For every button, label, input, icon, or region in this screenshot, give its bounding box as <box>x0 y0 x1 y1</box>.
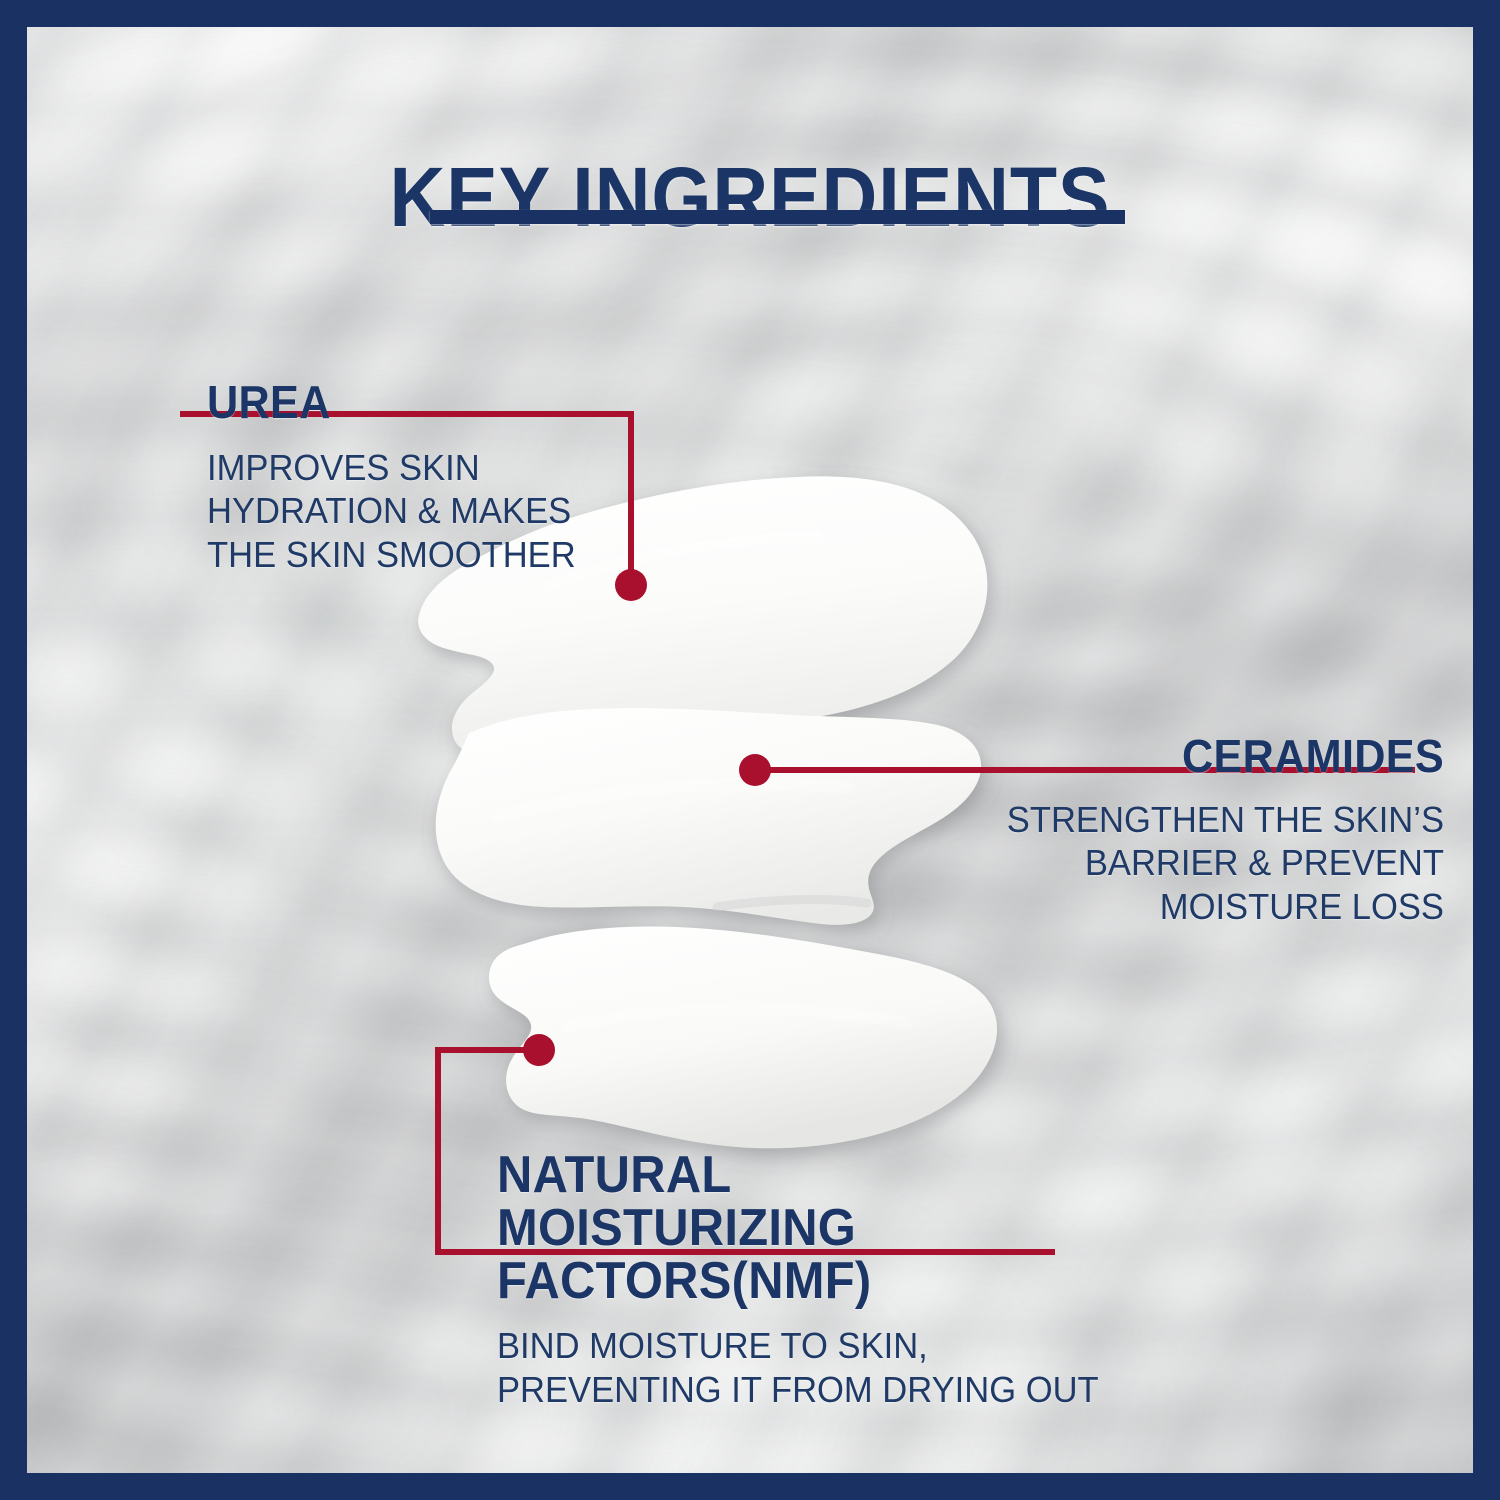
key-ingredients-infographic: KEY INGREDIENTS UREA IMPROVES SKINHYDRAT… <box>0 0 1500 1500</box>
cream-highlights <box>497 537 907 1027</box>
ingredient-name-urea: UREA <box>207 379 649 426</box>
ingredient-callout-nmf: NATURAL MOISTURIZINGFACTORS(NMF) BIND MO… <box>497 1149 1137 1411</box>
ingredient-name-ceramides: CERAMIDES <box>1010 733 1444 780</box>
ingredient-callout-urea: UREA IMPROVES SKINHYDRATION & MAKESTHE S… <box>207 379 677 577</box>
connector-dot-nmf <box>523 1034 555 1066</box>
cream-lobe-middle <box>436 708 981 925</box>
photo-canvas: KEY INGREDIENTS UREA IMPROVES SKINHYDRAT… <box>27 27 1473 1473</box>
ingredient-name-nmf: NATURAL MOISTURIZINGFACTORS(NMF) <box>497 1149 1099 1308</box>
ingredient-callout-ceramides: CERAMIDES STRENGTHEN THE SKIN’SBARRIER &… <box>982 733 1444 929</box>
ingredient-description-ceramides: STRENGTHEN THE SKIN’SBARRIER & PREVENTMO… <box>1000 798 1444 929</box>
ingredient-description-urea: IMPROVES SKINHYDRATION & MAKESTHE SKIN S… <box>207 446 658 577</box>
cream-lobe-bottom <box>489 927 997 1149</box>
page-title: KEY INGREDIENTS <box>85 155 1415 239</box>
ingredient-description-nmf: BIND MOISTURE TO SKIN,PREVENTING IT FROM… <box>497 1324 1111 1411</box>
connector-dot-ceramides <box>739 754 771 786</box>
page-title-underline <box>430 210 1125 224</box>
